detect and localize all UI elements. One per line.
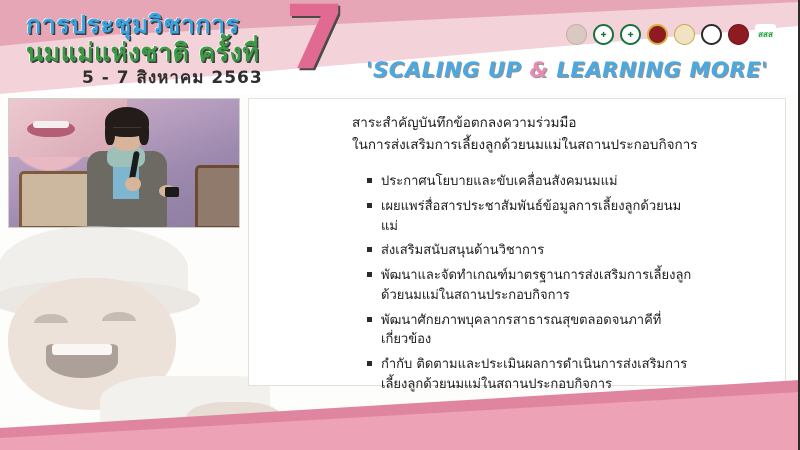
backdrop-teeth-graphic xyxy=(33,121,69,128)
baby-eye-left xyxy=(34,314,68,323)
content-intro-paragraph: สาระสำคัญบันทึกข้อตกลงความร่วมมือ ในการส… xyxy=(352,112,772,157)
speaker-video-thumbnail[interactable] xyxy=(8,98,240,228)
presentation-slide: การประชุมวิชาการ นมแม่แห่งชาติ ครั้งที่ … xyxy=(0,0,800,450)
conference-edition-number: 7 xyxy=(284,0,345,82)
baby-eye-right xyxy=(102,312,136,321)
baby-teeth xyxy=(52,344,112,355)
baby-watermark-image xyxy=(0,226,290,426)
list-item: พัฒนาและจัดทำเกณฑ์มาตรฐานการส่งเสริมการเ… xyxy=(366,266,696,306)
conference-tagline: 'SCALING UP & LEARNING MORE' xyxy=(366,58,768,82)
list-item: พัฒนาศักยภาพบุคลากรสาธารณสุขตลอดจนภาคีที… xyxy=(366,311,696,351)
logo-black-circle-emblem xyxy=(701,24,722,45)
tagline-part-two: LEARNING MORE' xyxy=(548,58,768,82)
logo-thaihealth-sss: สสส xyxy=(755,24,776,45)
baby-hat xyxy=(0,226,188,312)
logo-thai-royal-seal xyxy=(566,24,587,45)
speaker-hair-left xyxy=(105,121,115,145)
tagline-part-one: 'SCALING UP xyxy=(366,58,530,82)
list-item: ส่งเสริมสนับสนุนด้านวิชาการ xyxy=(366,241,696,261)
sponsor-logo-row: ✚ ✚ สสส xyxy=(566,24,776,45)
tagline-ampersand: & xyxy=(530,58,549,82)
armchair-right xyxy=(195,165,240,228)
logo-garuda-emblem xyxy=(674,24,695,45)
logo-ministry-public-health: ✚ xyxy=(593,24,614,45)
conference-date: 5 - 7 สิงหาคม 2563 xyxy=(82,64,263,91)
conference-banner: การประชุมวิชาการ นมแม่แห่งชาติ ครั้งที่ … xyxy=(0,0,800,94)
baby-hat-brim xyxy=(0,280,200,320)
intro-line-2: ในการส่งเสริมการเลี้ยงลูกด้วยนมแม่ในสถาน… xyxy=(352,134,772,156)
speaker-glasses xyxy=(113,127,141,133)
content-bullet-list: ประกาศนโยบายและขับเคลื่อนสังคมนมแม่ เผยแ… xyxy=(366,172,696,400)
list-item: กำกับ ติดตามและประเมินผลการดำเนินการส่งเ… xyxy=(366,355,696,395)
logo-red-crest xyxy=(728,24,749,45)
speaker-hand-left xyxy=(125,177,141,191)
list-item: เผยแพร่สื่อสารประชาสัมพันธ์ข้อมูลการเลี้… xyxy=(366,197,696,237)
logo-royal-crest-red xyxy=(647,24,668,45)
intro-line-1: สาระสำคัญบันทึกข้อตกลงความร่วมมือ xyxy=(352,112,772,134)
logo-health-department: ✚ xyxy=(620,24,641,45)
baby-mouth xyxy=(46,344,118,378)
speaker-hair-right xyxy=(139,121,149,145)
baby-face xyxy=(8,278,176,410)
list-item: ประกาศนโยบายและขับเคลื่อนสังคมนมแม่ xyxy=(366,172,696,192)
presenter-remote xyxy=(165,187,179,197)
